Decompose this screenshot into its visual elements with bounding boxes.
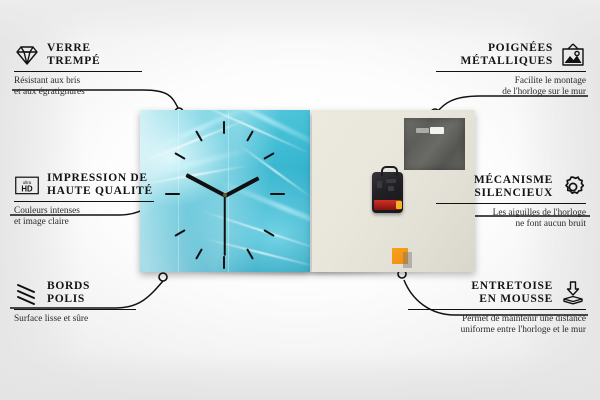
feature-title-line1: POIGNÉES [461, 42, 553, 55]
feature-title-line2: EN MOUSSE [471, 293, 553, 306]
feature-divider [436, 71, 586, 72]
hour-marker [263, 152, 274, 160]
hour-marker [174, 152, 185, 160]
hour-marker [246, 130, 254, 141]
feature-divider [14, 71, 142, 72]
hour-marker [223, 121, 225, 134]
wall-mount-frame-icon [560, 42, 586, 68]
feature-title-line2: TREMPÉ [47, 55, 100, 68]
feature-subtitle-line1: Permet de maintenir une distance [408, 314, 586, 325]
feature-impression-haute-qualite: ultra HD IMPRESSION DE HAUTE QUALITÉ Cou… [14, 172, 174, 228]
feature-subtitle-line1: Les aiguilles de l'horloge [436, 208, 586, 219]
feature-subtitle-line1: Couleurs intenses [14, 206, 174, 217]
hanger-plate-image [404, 118, 465, 170]
feature-title-line2: POLIS [47, 293, 90, 306]
clock-center-pin [223, 193, 227, 197]
hour-marker [270, 193, 285, 195]
foam-spacer-image [392, 248, 408, 264]
feature-title-line1: IMPRESSION DE [47, 172, 153, 185]
feature-subtitle-line2: et aux égratignures [14, 87, 164, 98]
foam-spacer-arrow-icon [560, 280, 586, 306]
feature-divider [436, 203, 586, 204]
feature-title-line1: MÉCANISME [474, 174, 553, 187]
feature-divider [408, 309, 586, 310]
feature-title-line1: BORDS [47, 280, 90, 293]
feature-subtitle-line1: Résistant aux bris [14, 76, 164, 87]
feature-subtitle-line1: Facilite le montage [436, 76, 586, 87]
feature-title-line1: ENTRETOISE [471, 280, 553, 293]
gear-icon [560, 174, 586, 200]
feature-mecanisme-silencieux: MÉCANISME SILENCIEUX Les aiguilles de l'… [436, 174, 586, 230]
hour-marker [223, 256, 225, 269]
feature-bords-polis: BORDS POLIS Surface lisse et sûre [14, 280, 154, 325]
feature-title-line1: VERRE [47, 42, 100, 55]
diamond-icon [14, 42, 40, 68]
minute-hand [185, 174, 226, 198]
feature-title-line2: MÉTALLIQUES [461, 55, 553, 68]
ultra-hd-badge-icon: ultra HD [14, 172, 40, 198]
infographic-canvas: VERRE TREMPÉ Résistant aux bris et aux é… [0, 0, 600, 400]
feature-entretoise-en-mousse: ENTRETOISE EN MOUSSE Permet de maintenir… [408, 280, 586, 336]
feature-subtitle-line2: ne font aucun bruit [436, 219, 586, 230]
feature-subtitle-line2: uniforme entre l'horloge et le mur [408, 325, 586, 336]
feature-subtitle-line2: et image claire [14, 217, 174, 228]
hour-marker [195, 248, 203, 259]
feature-title-line2: SILENCIEUX [474, 187, 553, 200]
feature-verre-trempe: VERRE TREMPÉ Résistant aux bris et aux é… [14, 42, 164, 98]
polished-edges-icon [14, 280, 40, 306]
svg-text:HD: HD [21, 185, 33, 194]
clock-mechanism-image [372, 172, 403, 213]
second-hand [224, 196, 226, 256]
hour-marker [174, 229, 185, 237]
feature-subtitle-line2: de l'horloge sur le mur [436, 87, 586, 98]
feature-title-line2: HAUTE QUALITÉ [47, 185, 153, 198]
feature-divider [14, 201, 154, 202]
feature-divider [14, 309, 136, 310]
feature-poignees-metalliques: POIGNÉES MÉTALLIQUES Facilite le montage… [436, 42, 586, 98]
feature-subtitle-line1: Surface lisse et sûre [14, 314, 154, 325]
